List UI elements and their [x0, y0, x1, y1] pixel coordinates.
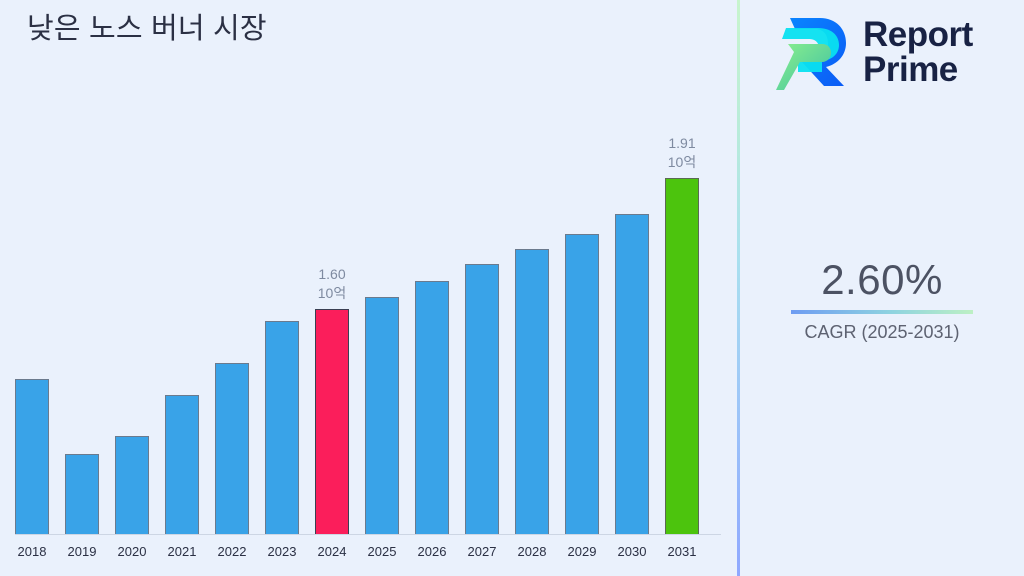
- bar-2028[interactable]: [515, 249, 549, 534]
- bar-group: 2029: [565, 234, 599, 534]
- x-axis-label-2022: 2022: [218, 544, 247, 560]
- bar-group: 2018: [15, 379, 49, 534]
- bar-value-number: 1.60: [318, 265, 346, 284]
- bar-2024[interactable]: [315, 309, 349, 534]
- bar-group: 2021: [165, 395, 199, 534]
- cagr-value: 2.60%: [740, 255, 1024, 305]
- x-axis-label-2030: 2030: [618, 544, 647, 560]
- brand-name-line1: Report: [863, 17, 973, 52]
- bar-group: 2030: [615, 214, 649, 534]
- cagr-divider-rule: [791, 310, 973, 314]
- bar-2023[interactable]: [265, 321, 299, 534]
- x-axis-label-2029: 2029: [568, 544, 597, 560]
- x-axis-label-2021: 2021: [168, 544, 197, 560]
- bar-group: 2022: [215, 363, 249, 534]
- bar-2018[interactable]: [15, 379, 49, 534]
- brand-logo: Report Prime: [776, 12, 973, 92]
- bar-group: 2028: [515, 249, 549, 534]
- brand-name-line2: Prime: [863, 52, 973, 87]
- bar-value-label-2024: 1.6010억: [318, 265, 346, 303]
- cagr-block: 2.60% CAGR (2025-2031): [740, 255, 1024, 344]
- x-axis-label-2024: 2024: [318, 544, 347, 560]
- bar-2026[interactable]: [415, 281, 449, 534]
- chart-area: 2018201920202021202220231.6010억202420252…: [0, 0, 737, 576]
- x-axis-label-2018: 2018: [18, 544, 47, 560]
- x-axis-label-2023: 2023: [268, 544, 297, 560]
- x-axis-label-2027: 2027: [468, 544, 497, 560]
- x-axis-label-2028: 2028: [518, 544, 547, 560]
- x-axis-label-2026: 2026: [418, 544, 447, 560]
- bar-group: 2025: [365, 297, 399, 534]
- bar-2031[interactable]: [665, 178, 699, 534]
- bar-2027[interactable]: [465, 264, 499, 534]
- x-axis-label-2025: 2025: [368, 544, 397, 560]
- bar-group: 2023: [265, 321, 299, 534]
- bar-value-unit: 10억: [318, 284, 346, 303]
- bar-group: 2020: [115, 436, 149, 534]
- bar-series: 2018201920202021202220231.6010억202420252…: [0, 0, 737, 576]
- chart-page: 낮은 노스 버너 시장 2018201920202021202220231.60…: [0, 0, 1024, 576]
- bar-2022[interactable]: [215, 363, 249, 534]
- x-axis-label-2019: 2019: [68, 544, 97, 560]
- bar-2030[interactable]: [615, 214, 649, 534]
- bar-group: 2019: [65, 454, 99, 534]
- bar-2019[interactable]: [65, 454, 99, 534]
- bar-2029[interactable]: [565, 234, 599, 534]
- bar-2020[interactable]: [115, 436, 149, 534]
- bar-value-number: 1.91: [668, 134, 696, 153]
- x-axis-label-2031: 2031: [668, 544, 697, 560]
- cagr-label: CAGR (2025-2031): [740, 320, 1024, 344]
- bar-group: 2027: [465, 264, 499, 534]
- bar-group: 2026: [415, 281, 449, 534]
- bar-value-label-2031: 1.9110억: [668, 134, 696, 172]
- bar-value-unit: 10억: [668, 153, 696, 172]
- bar-group: 1.9110억2031: [665, 178, 699, 534]
- bar-2025[interactable]: [365, 297, 399, 534]
- bar-group: 1.6010억2024: [315, 309, 349, 534]
- bar-2021[interactable]: [165, 395, 199, 534]
- brand-name: Report Prime: [863, 17, 973, 87]
- report-prime-r-mark-icon: [776, 12, 850, 92]
- x-axis-label-2020: 2020: [118, 544, 147, 560]
- right-panel: Report Prime 2.60% CAGR (2025-2031): [740, 0, 1024, 576]
